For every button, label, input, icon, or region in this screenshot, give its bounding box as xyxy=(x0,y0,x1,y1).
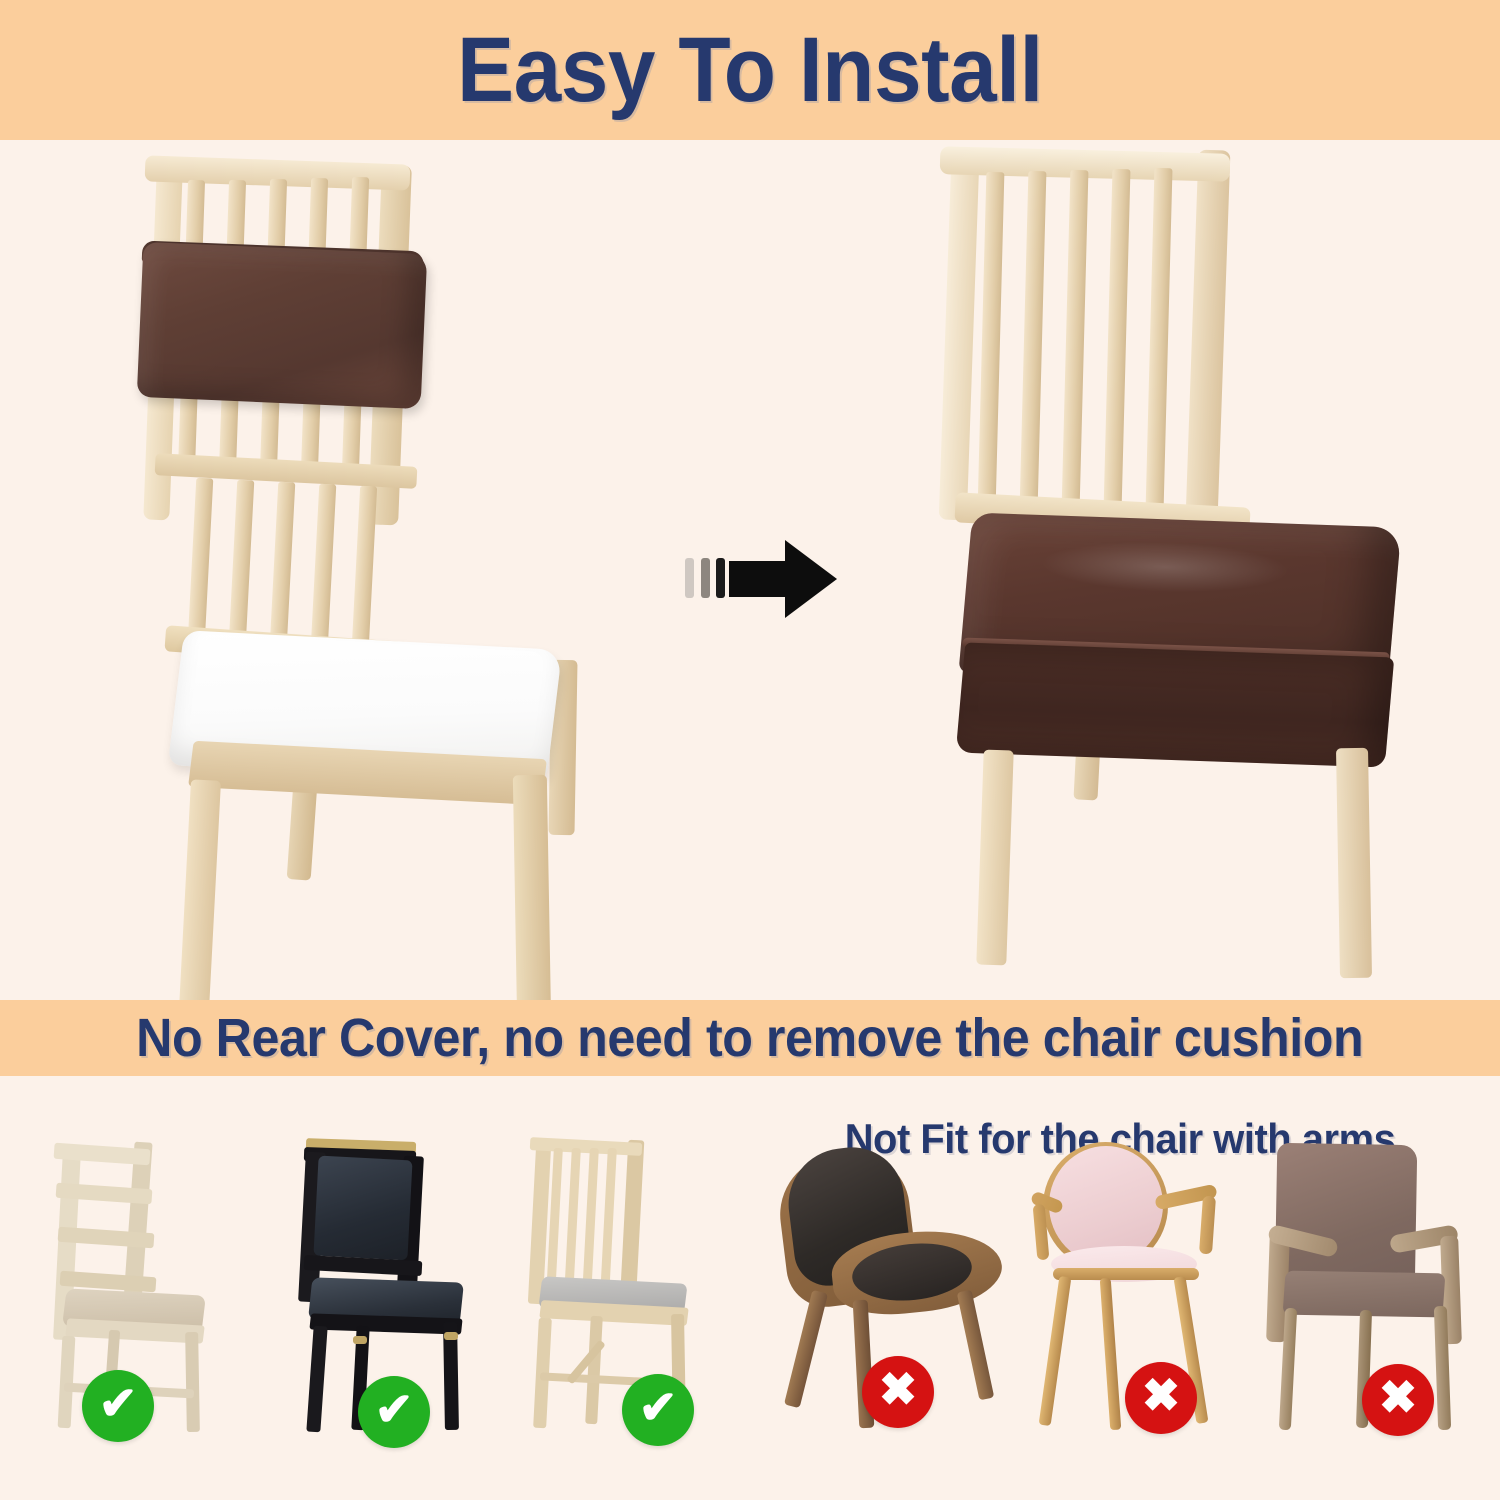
compatibility-gallery: ✔ ✔ xyxy=(0,1140,1500,1500)
chair-gold-trim xyxy=(353,1336,367,1344)
badge-glyph: ✖ xyxy=(1142,1372,1181,1418)
arrow-shaft xyxy=(729,561,793,597)
cross-icon: ✖ xyxy=(1362,1364,1434,1436)
motion-line xyxy=(701,558,710,598)
chair-back-slat xyxy=(600,1148,617,1296)
chair-leg xyxy=(185,1332,200,1432)
chair-leg xyxy=(784,1290,828,1408)
brown-seat-cover-draped xyxy=(137,242,427,409)
chair-arm-support xyxy=(1199,1196,1216,1255)
hero-demo-section xyxy=(0,140,1500,1000)
chair-leg-front-left xyxy=(976,750,1013,966)
chair-back-slat-lower xyxy=(311,484,337,650)
gallery-item-slat-back-wood-chair: ✔ xyxy=(496,1140,746,1500)
right-arrow-icon xyxy=(685,540,845,630)
chair-back-slat xyxy=(1104,169,1131,511)
chair-back-upholstery xyxy=(313,1156,412,1261)
chair-leg xyxy=(957,1290,995,1401)
check-icon: ✔ xyxy=(82,1370,154,1442)
chair-leg-front-right xyxy=(1336,748,1372,979)
chair-leg xyxy=(585,1316,603,1424)
chair-back-slat-lower xyxy=(188,478,214,644)
slat-back-wood-chair-illustration xyxy=(496,1140,746,1440)
gallery-item-shell-lounge-chair: ✖ xyxy=(770,1140,1020,1500)
badge-glyph: ✔ xyxy=(639,1384,678,1430)
gallery-item-fabric-armchair: ✖ xyxy=(1240,1140,1490,1500)
motion-line xyxy=(685,558,694,598)
seat-cover-skirt xyxy=(956,643,1395,768)
chair-back-slat xyxy=(564,1148,581,1296)
chair-gold-trim xyxy=(444,1332,458,1340)
check-icon: ✔ xyxy=(358,1376,430,1448)
cross-icon: ✖ xyxy=(862,1356,934,1428)
badge-glyph: ✖ xyxy=(1379,1374,1418,1420)
chair-back-slat-lower xyxy=(229,480,255,646)
arrow-head xyxy=(785,540,837,618)
top-banner: Easy To Install xyxy=(0,0,1500,140)
chair-leg xyxy=(306,1326,327,1433)
chair-back-slat xyxy=(1020,171,1047,509)
chair-back-slat xyxy=(1062,170,1089,510)
product-infographic: Easy To Install xyxy=(0,0,1500,1500)
check-icon: ✔ xyxy=(622,1374,694,1446)
motion-line xyxy=(716,558,725,598)
page-title: Easy To Install xyxy=(457,24,1043,116)
chair-back-slat xyxy=(582,1148,599,1296)
chair-before xyxy=(120,160,640,990)
gallery-item-ladder-back-chair: ✔ xyxy=(20,1140,270,1500)
chair-leg xyxy=(1100,1278,1122,1430)
chair-leg xyxy=(1039,1276,1072,1426)
chair-back-slat-lower xyxy=(352,486,377,647)
chair-back-post-left xyxy=(939,160,980,521)
cross-icon: ✖ xyxy=(1125,1362,1197,1434)
chair-leg-front-left xyxy=(179,779,221,1010)
badge-glyph: ✔ xyxy=(99,1380,138,1426)
chair-back-post-right xyxy=(1186,150,1231,521)
gallery-item-pink-gold-armchair: ✖ xyxy=(1005,1140,1255,1500)
chair-after xyxy=(920,150,1440,990)
gallery-item-black-leather-chair: ✔ xyxy=(258,1140,508,1500)
badge-glyph: ✖ xyxy=(879,1366,918,1412)
chair-back-slat xyxy=(978,172,1005,508)
mid-banner: No Rear Cover, no need to remove the cha… xyxy=(0,1000,1500,1076)
chair-leg-front-right xyxy=(513,775,551,1026)
badge-glyph: ✔ xyxy=(375,1386,414,1432)
mid-banner-title: No Rear Cover, no need to remove the cha… xyxy=(137,1010,1364,1066)
chair-back-slat xyxy=(1146,168,1173,512)
chair-back-slat-lower xyxy=(270,482,296,648)
